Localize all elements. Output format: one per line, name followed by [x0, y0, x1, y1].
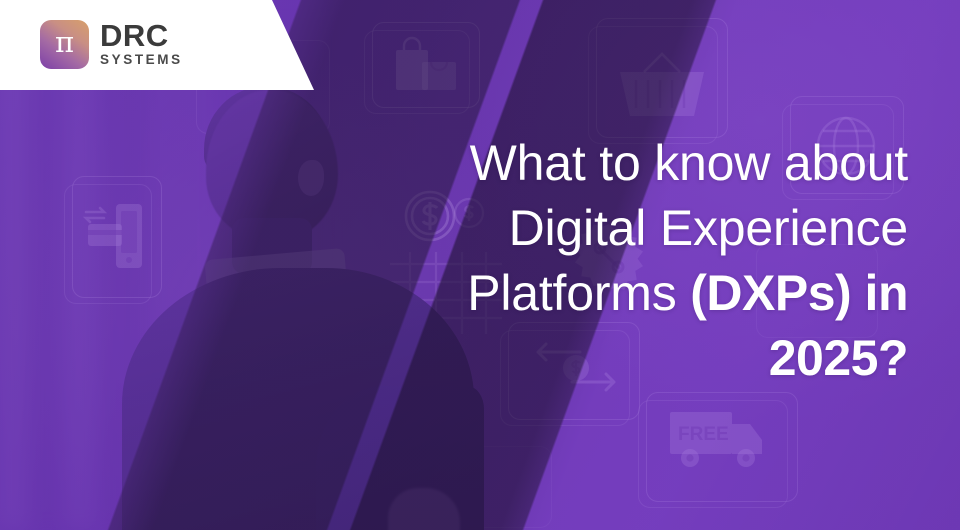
headline-line-3-bold: (DXPs) in	[690, 265, 908, 321]
decor-frame-3	[410, 446, 552, 528]
free-label: FREE	[678, 424, 729, 445]
brand-name-secondary: SYSTEMS	[100, 53, 183, 67]
shopping-bags-icon	[392, 34, 464, 96]
headline-line-3-regular: Platforms	[467, 265, 690, 321]
brand-name-primary: DRC	[100, 21, 183, 51]
brand-wordmark: DRC SYSTEMS	[100, 21, 183, 67]
mobile-payment-icon	[82, 196, 152, 278]
page-title: What to know about Digital Experience Pl…	[348, 131, 908, 391]
headline-line-3: Platforms (DXPs) in	[348, 261, 908, 326]
logo-bar: π DRC SYSTEMS	[0, 0, 320, 90]
free-delivery-truck-icon: FREE	[668, 406, 778, 476]
hero-banner: FREE π DRC SYSTEMS What to know	[0, 0, 960, 530]
headline-line-1: What to know about	[348, 131, 908, 196]
pi-symbol-icon: π	[40, 20, 89, 69]
brand-logo[interactable]: π DRC SYSTEMS	[40, 20, 183, 69]
shopping-basket-icon	[614, 52, 710, 124]
headline-line-4: 2025?	[348, 326, 908, 391]
headline-line-2: Digital Experience	[348, 196, 908, 261]
